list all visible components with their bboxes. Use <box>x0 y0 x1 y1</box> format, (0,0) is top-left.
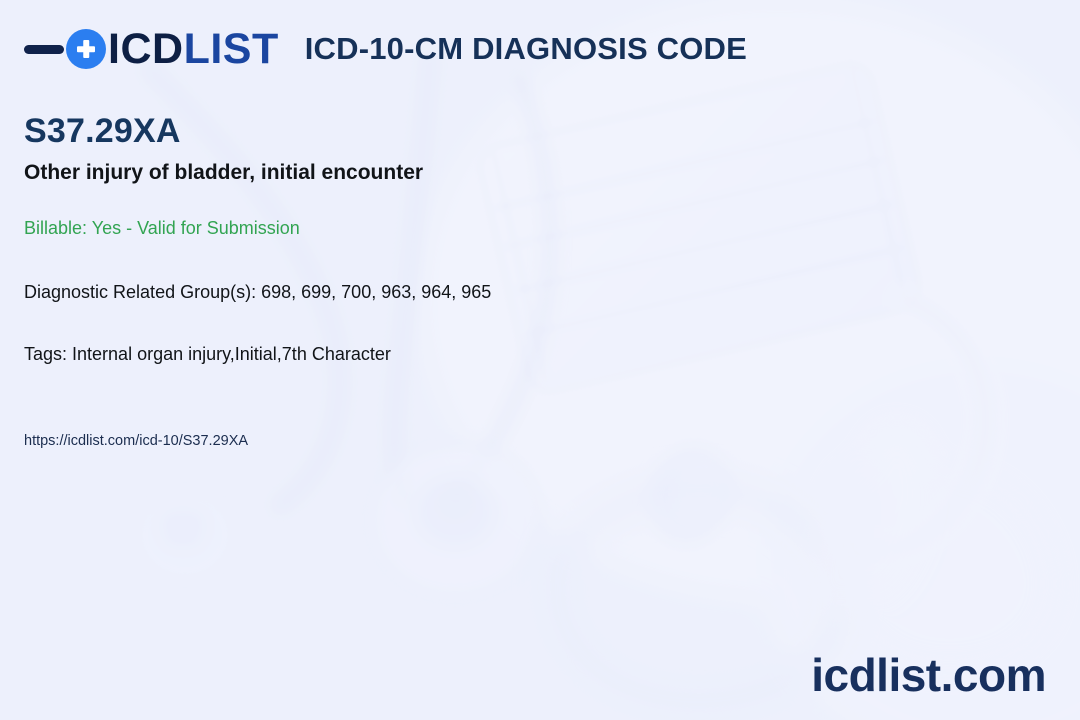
icdlist-logo[interactable]: ICDLIST <box>24 25 279 73</box>
diagnosis-code: S37.29XA <box>24 112 984 151</box>
source-url[interactable]: https://icdlist.com/icd-10/S37.29XA <box>24 433 984 450</box>
diagnosis-description: Other injury of bladder, initial encount… <box>24 160 984 185</box>
logo-wordmark: ICDLIST <box>108 28 279 71</box>
dash-icon <box>24 45 64 54</box>
code-details: S37.29XA Other injury of bladder, initia… <box>24 112 984 450</box>
billable-status: Billable: Yes - Valid for Submission <box>24 218 984 240</box>
plus-circle-icon <box>66 29 106 69</box>
page-header: ICDLIST ICD-10-CM DIAGNOSIS CODE <box>0 0 1080 98</box>
logo-text-list: LIST <box>184 25 279 73</box>
poster-card: ICDLIST ICD-10-CM DIAGNOSIS CODE S37.29X… <box>0 0 1080 720</box>
tags-list: Tags: Internal organ injury,Initial,7th … <box>24 344 984 366</box>
page-title: ICD-10-CM DIAGNOSIS CODE <box>305 31 747 67</box>
drg-list: Diagnostic Related Group(s): 698, 699, 7… <box>24 282 984 304</box>
logo-text-icd: ICD <box>108 25 184 73</box>
site-watermark: icdlist.com <box>811 652 1046 698</box>
